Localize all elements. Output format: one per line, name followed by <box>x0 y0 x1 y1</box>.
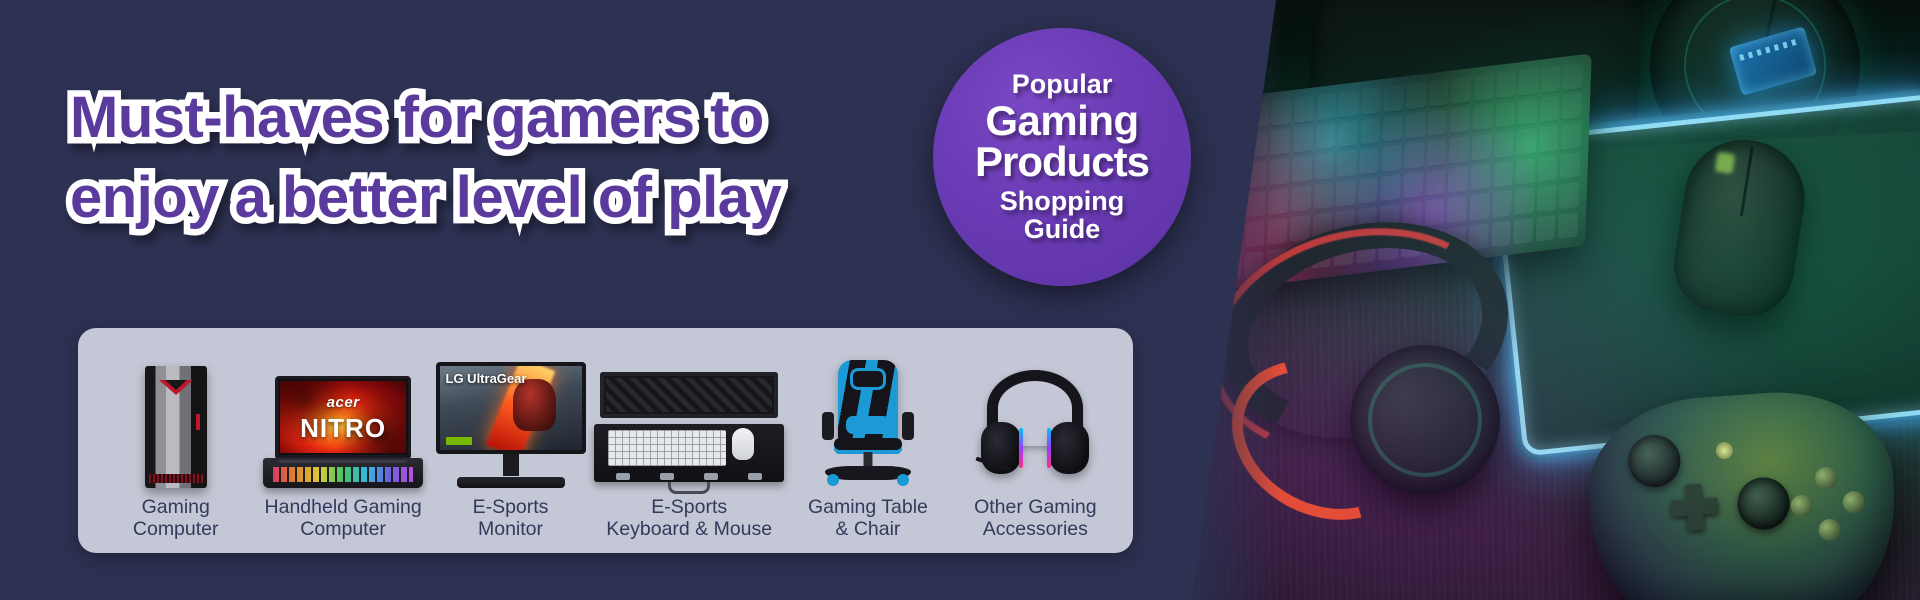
badge-line-guide: Guide <box>1024 216 1101 244</box>
case-lid <box>600 372 778 418</box>
case-latch <box>704 473 718 480</box>
controller-face-buttons <box>1788 465 1867 544</box>
headset-cup-right <box>1049 422 1089 474</box>
category-label: Gaming Computer <box>133 496 219 541</box>
category-thumbnail <box>92 356 259 488</box>
keyboard-in-case <box>608 430 726 466</box>
over-ear-headphones-icon <box>1200 225 1530 525</box>
controller-dpad <box>1670 483 1719 532</box>
category-gaming-table-chair[interactable]: Gaming Table & Chair <box>784 338 951 541</box>
banner-headline: Must-haves for gamers to enjoy a better … <box>70 78 970 238</box>
controller-home-button <box>1715 442 1733 460</box>
category-label: E-Sports Monitor <box>473 496 549 541</box>
badge-line-shopping: Shopping <box>1000 188 1124 216</box>
case-handle <box>668 482 710 494</box>
category-esports-monitor[interactable]: LG UltraGear E-Sports Monitor <box>427 338 594 541</box>
chair-armrest-right <box>902 412 914 440</box>
chair-armrest-left <box>822 412 834 440</box>
headset-rgb-strip-left <box>1019 428 1023 468</box>
category-thumbnail <box>594 356 784 488</box>
case-base <box>594 424 784 482</box>
photo-scene <box>1160 0 1920 600</box>
tower-grill <box>149 474 203 483</box>
case-latch <box>616 473 630 480</box>
controller-right-stick <box>1736 476 1792 532</box>
case-foam <box>606 378 772 412</box>
gaming-products-banner: Must-haves for gamers to enjoy a better … <box>0 0 1920 600</box>
laptop-base <box>263 458 423 488</box>
chair-base <box>825 466 911 480</box>
case-latch <box>748 473 762 480</box>
monitor-badge <box>446 437 472 445</box>
monitor-stand <box>457 477 565 488</box>
acer-brand-text: acer <box>278 394 408 411</box>
category-label: Gaming Table & Chair <box>808 496 928 541</box>
category-handheld-gaming-computer[interactable]: acer NITRO Handheld Gaming Computer <box>259 338 426 541</box>
nitro-model-text: NITRO <box>278 413 408 444</box>
badge-line-products: Products <box>975 141 1149 184</box>
gaming-monitor-icon: LG UltraGear <box>436 362 586 488</box>
category-thumbnail <box>952 356 1119 488</box>
mouse-in-case <box>732 428 754 460</box>
tower-logo <box>159 380 193 395</box>
monitor-neck <box>503 454 519 476</box>
gaming-desk-photo <box>1160 0 1920 600</box>
category-gaming-computer[interactable]: Gaming Computer <box>92 338 259 541</box>
chair-headrest <box>850 368 886 390</box>
headset-rgb-strip-right <box>1047 428 1051 468</box>
category-other-gaming-accessories[interactable]: Other Gaming Accessories <box>952 338 1119 541</box>
popular-products-badge[interactable]: Popular Gaming Products Shopping Guide <box>933 28 1191 286</box>
category-strip: Gaming Computer acer NITRO Handheld Gami… <box>78 328 1133 553</box>
gaming-chair-icon <box>816 360 920 488</box>
category-label: E-Sports Keyboard & Mouse <box>606 496 772 541</box>
headline-line-1: Must-haves for gamers to <box>70 85 764 150</box>
tower-port <box>196 414 200 430</box>
badge-line-popular: Popular <box>1012 71 1113 99</box>
category-label: Handheld Gaming Computer <box>265 496 422 541</box>
category-thumbnail: LG UltraGear <box>427 356 594 488</box>
gaming-laptop-icon: acer NITRO <box>263 376 423 488</box>
headline-line-2: enjoy a better level of play <box>70 158 970 238</box>
lg-ultragear-brand-text: LG UltraGear <box>446 371 527 386</box>
badge-line-gaming: Gaming <box>985 100 1138 143</box>
desktop-tower-icon <box>145 366 207 488</box>
laptop-rgb-keyboard <box>273 467 413 482</box>
laptop-screen: acer NITRO <box>275 376 411 458</box>
case-latch <box>660 473 674 480</box>
laptop-hinge <box>279 460 407 463</box>
category-esports-keyboard-mouse[interactable]: E-Sports Keyboard & Mouse <box>594 338 784 541</box>
chair-lumbar-cushion <box>846 416 890 434</box>
keyboard-mouse-case-icon <box>594 372 784 488</box>
controller-left-stick <box>1627 433 1683 489</box>
monitor-screen: LG UltraGear <box>436 362 586 454</box>
category-thumbnail <box>784 356 951 488</box>
category-label: Other Gaming Accessories <box>974 496 1096 541</box>
gaming-headset-icon <box>979 366 1091 488</box>
category-thumbnail: acer NITRO <box>259 356 426 488</box>
